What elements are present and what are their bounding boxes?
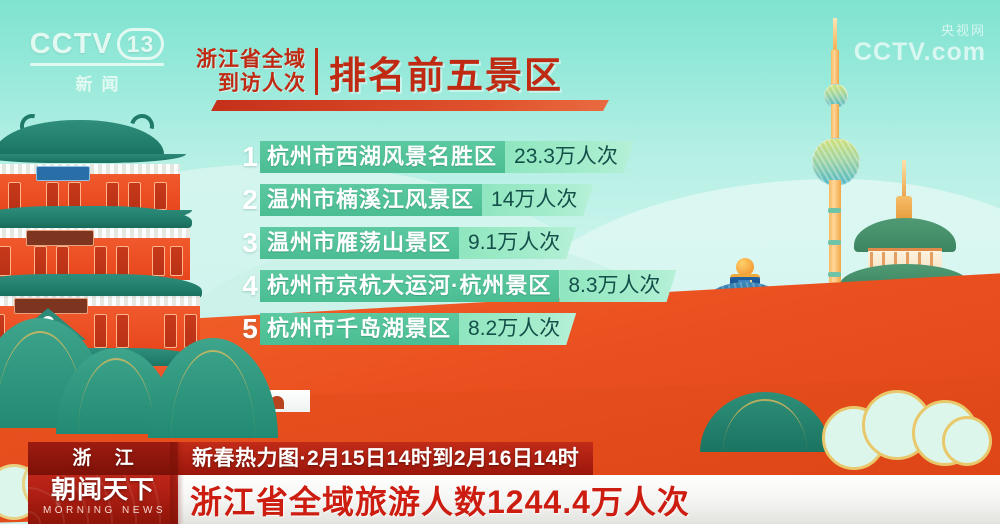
- attraction-name: 杭州市西湖风景名胜区: [260, 141, 505, 173]
- channel-number: 13: [117, 28, 165, 60]
- visitor-count: 23.3万人次: [505, 141, 634, 173]
- watermark-en: CCTV.com: [854, 40, 986, 65]
- cctv-wordmark: CCTV: [30, 30, 113, 59]
- province-label: 浙 江: [28, 443, 178, 475]
- rank-number: 3: [240, 227, 260, 259]
- lower-third-banner: 浙 江 朝闻天下 MORNING NEWS 新春热力图·2月15日14时到2月1…: [0, 442, 1000, 524]
- program-branding: 朝闻天下 MORNING NEWS: [28, 475, 178, 517]
- list-item: 1 杭州市西湖风景名胜区 23.3万人次: [240, 141, 677, 173]
- title-subject-line1: 浙江省全域: [196, 48, 306, 72]
- channel-subtitle: 新闻: [22, 70, 172, 95]
- graphic-title: 浙江省全域 到访人次 排名前五景区: [196, 48, 606, 111]
- visitor-count: 8.3万人次: [559, 270, 676, 302]
- visitor-count: 8.2万人次: [459, 313, 576, 345]
- visitor-count: 14万人次: [482, 184, 593, 216]
- rank-number: 1: [240, 141, 260, 173]
- program-name-en: MORNING NEWS: [28, 505, 178, 517]
- story-headline-bar: 浙江省全域旅游人数1244.4万人次: [178, 475, 1000, 524]
- attraction-name: 杭州市京杭大运河·杭州景区: [260, 270, 559, 302]
- title-subject-line2: 到访人次: [196, 72, 306, 96]
- ranking-list: 1 杭州市西湖风景名胜区 23.3万人次 2 温州市楠溪江风景区 14万人次 3…: [240, 141, 677, 356]
- story-headline: 浙江省全域旅游人数1244.4万人次: [178, 477, 690, 523]
- title-underline-bar: [211, 100, 609, 111]
- watermark-cn: 央视网: [854, 20, 986, 39]
- attraction-name: 温州市楠溪江风景区: [260, 184, 482, 216]
- cctv13-channel-logo: CCTV 13 新闻: [22, 28, 172, 95]
- list-item: 5 杭州市千岛湖景区 8.2万人次: [240, 313, 677, 345]
- title-subject: 浙江省全域 到访人次: [196, 48, 318, 95]
- program-name-cn: 朝闻天下: [28, 475, 178, 505]
- attraction-name: 温州市雁荡山景区: [260, 227, 459, 259]
- broadcast-screen: CCTV 13 新闻 央视网 CCTV.com 浙江省全域 到访人次 排名前五景…: [0, 0, 1000, 524]
- rank-number: 5: [240, 313, 260, 345]
- list-item: 3 温州市雁荡山景区 9.1万人次: [240, 227, 677, 259]
- cctv-com-watermark: 央视网 CCTV.com: [854, 20, 986, 65]
- rank-number: 2: [240, 184, 260, 216]
- visitor-count: 9.1万人次: [459, 227, 576, 259]
- attraction-name: 杭州市千岛湖景区: [260, 313, 459, 345]
- list-item: 2 温州市楠溪江风景区 14万人次: [240, 184, 677, 216]
- title-main: 排名前五景区: [318, 57, 563, 95]
- story-subtitle: 新春热力图·2月15日14时到2月16日14时: [178, 442, 593, 475]
- rank-number: 4: [240, 270, 260, 302]
- logo-divider: [30, 63, 164, 66]
- list-item: 4 杭州市京杭大运河·杭州景区 8.3万人次: [240, 270, 677, 302]
